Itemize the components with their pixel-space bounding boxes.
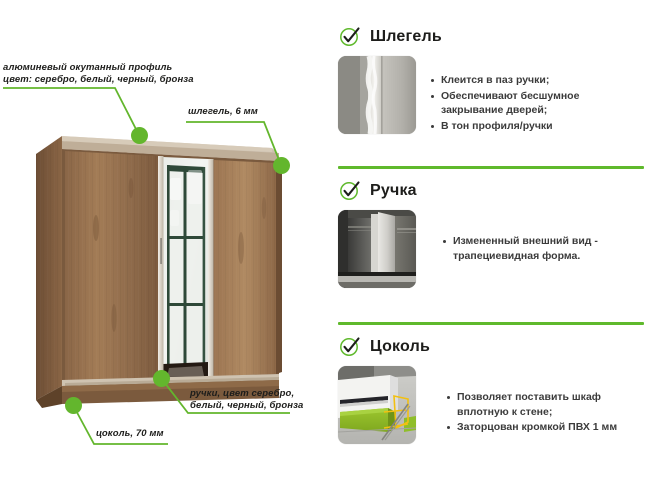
feature-plinth-bullets-wrap: Позволяет поставить шкаф вплотную к стен… — [430, 366, 617, 444]
feature-handle-bullets-wrap: Измененный внешний вид - трапециевидная … — [430, 210, 598, 288]
callout-plinth-line1: цоколь, 70 мм — [96, 428, 164, 440]
feature-handle-title: Ручка — [370, 182, 417, 200]
feature-shlegel-body: Клеится в паз ручки; Обеспечивают бесшум… — [338, 56, 652, 134]
feature-shlegel-header: Шлегель — [338, 22, 442, 52]
feature-shlegel-title: Шлегель — [370, 28, 442, 46]
callout-handles-line1: ручки, цвет серебро, — [190, 388, 303, 400]
marker-dot-profile — [131, 127, 148, 144]
wardrobe-illustration-panel: алюминевый окутанный профиль цвет: сереб… — [0, 0, 330, 500]
callout-profile-line2: цвет: серебро, белый, черный, бронза — [3, 74, 194, 86]
feature-handle-bullets: Измененный внешний вид - трапециевидная … — [442, 210, 598, 263]
feature-handle-header: Ручка — [338, 176, 417, 206]
marker-dot-shlegel — [273, 157, 290, 174]
bullet-item: Обеспечивают бесшумное закрывание дверей… — [430, 89, 579, 118]
bullet-item: Клеится в паз ручки; — [430, 73, 579, 88]
check-circle-icon — [338, 180, 360, 202]
feature-shlegel-bullets-wrap: Клеится в паз ручки; Обеспечивают бесшум… — [430, 56, 579, 134]
feature-plinth-body: Позволяет поставить шкаф вплотную к стен… — [338, 366, 652, 444]
callout-shlegel: шлегель, 6 мм — [188, 106, 258, 118]
check-circle-icon — [338, 336, 360, 358]
callout-handles-line2: белый, черный, бронза — [190, 400, 303, 412]
check-circle-icon — [338, 26, 360, 48]
bullet-item: Заторцован кромкой ПВХ 1 мм — [446, 420, 617, 435]
bullet-item: Измененный внешний вид - трапециевидная … — [442, 234, 598, 263]
callout-profile-line1: алюминевый окутанный профиль — [3, 62, 194, 74]
callout-shlegel-line1: шлегель, 6 мм — [188, 106, 258, 118]
infographic-page: алюминевый окутанный профиль цвет: сереб… — [0, 0, 652, 500]
section-divider — [338, 166, 644, 169]
feature-handle: Ручка — [330, 176, 652, 324]
callout-profile: алюминевый окутанный профиль цвет: сереб… — [3, 62, 194, 86]
feature-shlegel-bullets: Клеится в паз ручки; Обеспечивают бесшум… — [430, 56, 579, 133]
feature-plinth-bullets: Позволяет поставить шкаф вплотную к стен… — [446, 366, 617, 435]
feature-plinth: Цоколь — [330, 332, 652, 482]
callout-handles: ручки, цвет серебро, белый, черный, брон… — [190, 388, 303, 412]
shlegel-brush-seal-photo — [338, 56, 416, 134]
features-column: Шлегель — [330, 0, 652, 500]
feature-handle-body: Измененный внешний вид - трапециевидная … — [338, 210, 652, 288]
feature-shlegel: Шлегель — [330, 22, 652, 168]
section-divider — [338, 322, 644, 325]
wardrobe-image — [36, 118, 286, 408]
marker-dot-plinth — [65, 397, 82, 414]
marker-dot-handles — [153, 370, 170, 387]
callout-plinth: цоколь, 70 мм — [96, 428, 164, 440]
feature-plinth-title: Цоколь — [370, 338, 430, 356]
plinth-base-photo — [338, 366, 416, 444]
handle-profile-photo — [338, 210, 416, 288]
feature-plinth-header: Цоколь — [338, 332, 430, 362]
bullet-item: В тон профиля/ручки — [430, 119, 579, 134]
bullet-item: Позволяет поставить шкаф вплотную к стен… — [446, 390, 617, 419]
